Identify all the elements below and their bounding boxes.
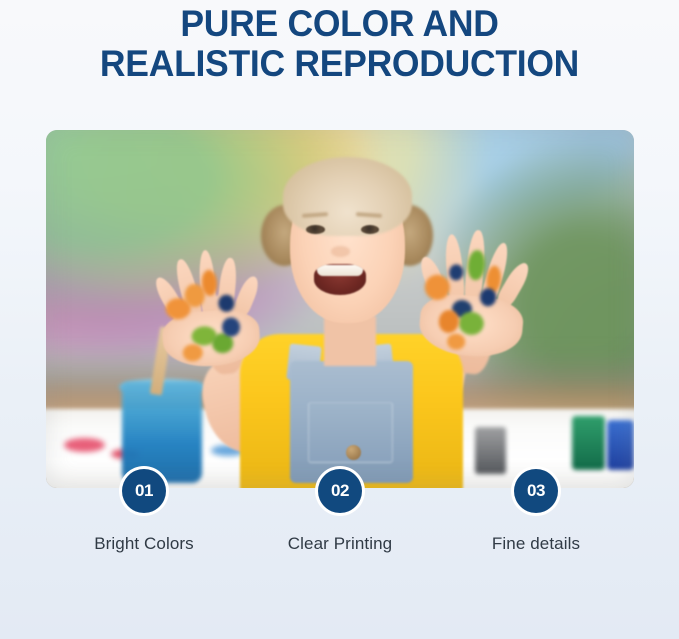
feature-label-02: Clear Printing <box>288 534 392 554</box>
feature-item-02: 02 Clear Printing <box>242 466 438 554</box>
painted-hand-right <box>418 237 530 360</box>
feature-number-02: 02 <box>318 469 362 513</box>
feature-label-01: Bright Colors <box>94 534 194 554</box>
paint-navy <box>218 294 235 312</box>
hero-photo <box>46 130 634 488</box>
feature-number-03: 03 <box>514 469 558 513</box>
headline-line-1: PURE COLOR AND <box>14 4 666 44</box>
paint-orange <box>182 343 203 361</box>
feature-badge-01: 01 <box>119 466 169 516</box>
paint-green <box>467 250 486 281</box>
feature-badge-02: 02 <box>315 466 365 516</box>
neck <box>324 316 377 366</box>
open-smiling-mouth <box>314 264 366 294</box>
page-title: PURE COLOR AND REALISTIC REPRODUCTION <box>14 0 666 84</box>
eye-left <box>306 225 324 234</box>
painted-hand-left <box>157 256 261 370</box>
feature-badge-03: 03 <box>511 466 561 516</box>
teeth <box>317 265 363 275</box>
headline-line-2: REALISTIC REPRODUCTION <box>14 44 666 84</box>
feature-label-03: Fine details <box>492 534 580 554</box>
child-subject <box>46 130 634 488</box>
feature-item-03: 03 Fine details <box>438 466 634 554</box>
feature-item-01: 01 Bright Colors <box>46 466 242 554</box>
hair <box>283 157 412 236</box>
feature-number-01: 01 <box>122 469 166 513</box>
feature-list: 01 Bright Colors 02 Clear Printing 03 Fi… <box>46 466 634 554</box>
nose <box>331 246 350 257</box>
